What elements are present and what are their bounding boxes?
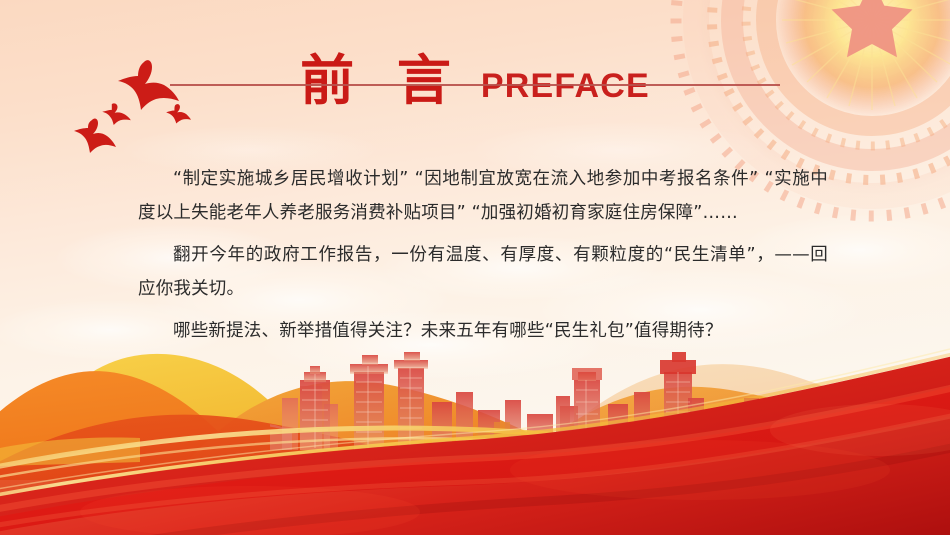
preface-slide: 前 言 PREFACE “制定实施城乡居民增收计划” “因地制宜放宽在流入地参加… (0, 0, 950, 535)
preface-body: “制定实施城乡居民增收计划” “因地制宜放宽在流入地参加中考报名条件” “实施中… (138, 162, 828, 348)
page-title-en: PREFACE (481, 69, 650, 103)
paragraph-2: 翻开今年的政府工作报告，一份有温度、有厚度、有颗粒度的“民生清单”，——回应你我… (138, 238, 828, 306)
paragraph-1: “制定实施城乡居民增收计划” “因地制宜放宽在流入地参加中考报名条件” “实施中… (138, 162, 828, 230)
red-silk-ribbon-icon (0, 344, 950, 535)
title-divider (170, 84, 780, 86)
city-skyline-icon (236, 352, 942, 450)
page-header: 前 言 PREFACE (0, 52, 950, 106)
paragraph-3: 哪些新提法、新举措值得关注？未来五年有哪些“民生礼包”值得期待？ (138, 314, 828, 348)
rolling-hills-icon (0, 354, 950, 500)
page-title-cn: 前 言 (300, 54, 463, 108)
title-row: 前 言 PREFACE (300, 52, 650, 106)
